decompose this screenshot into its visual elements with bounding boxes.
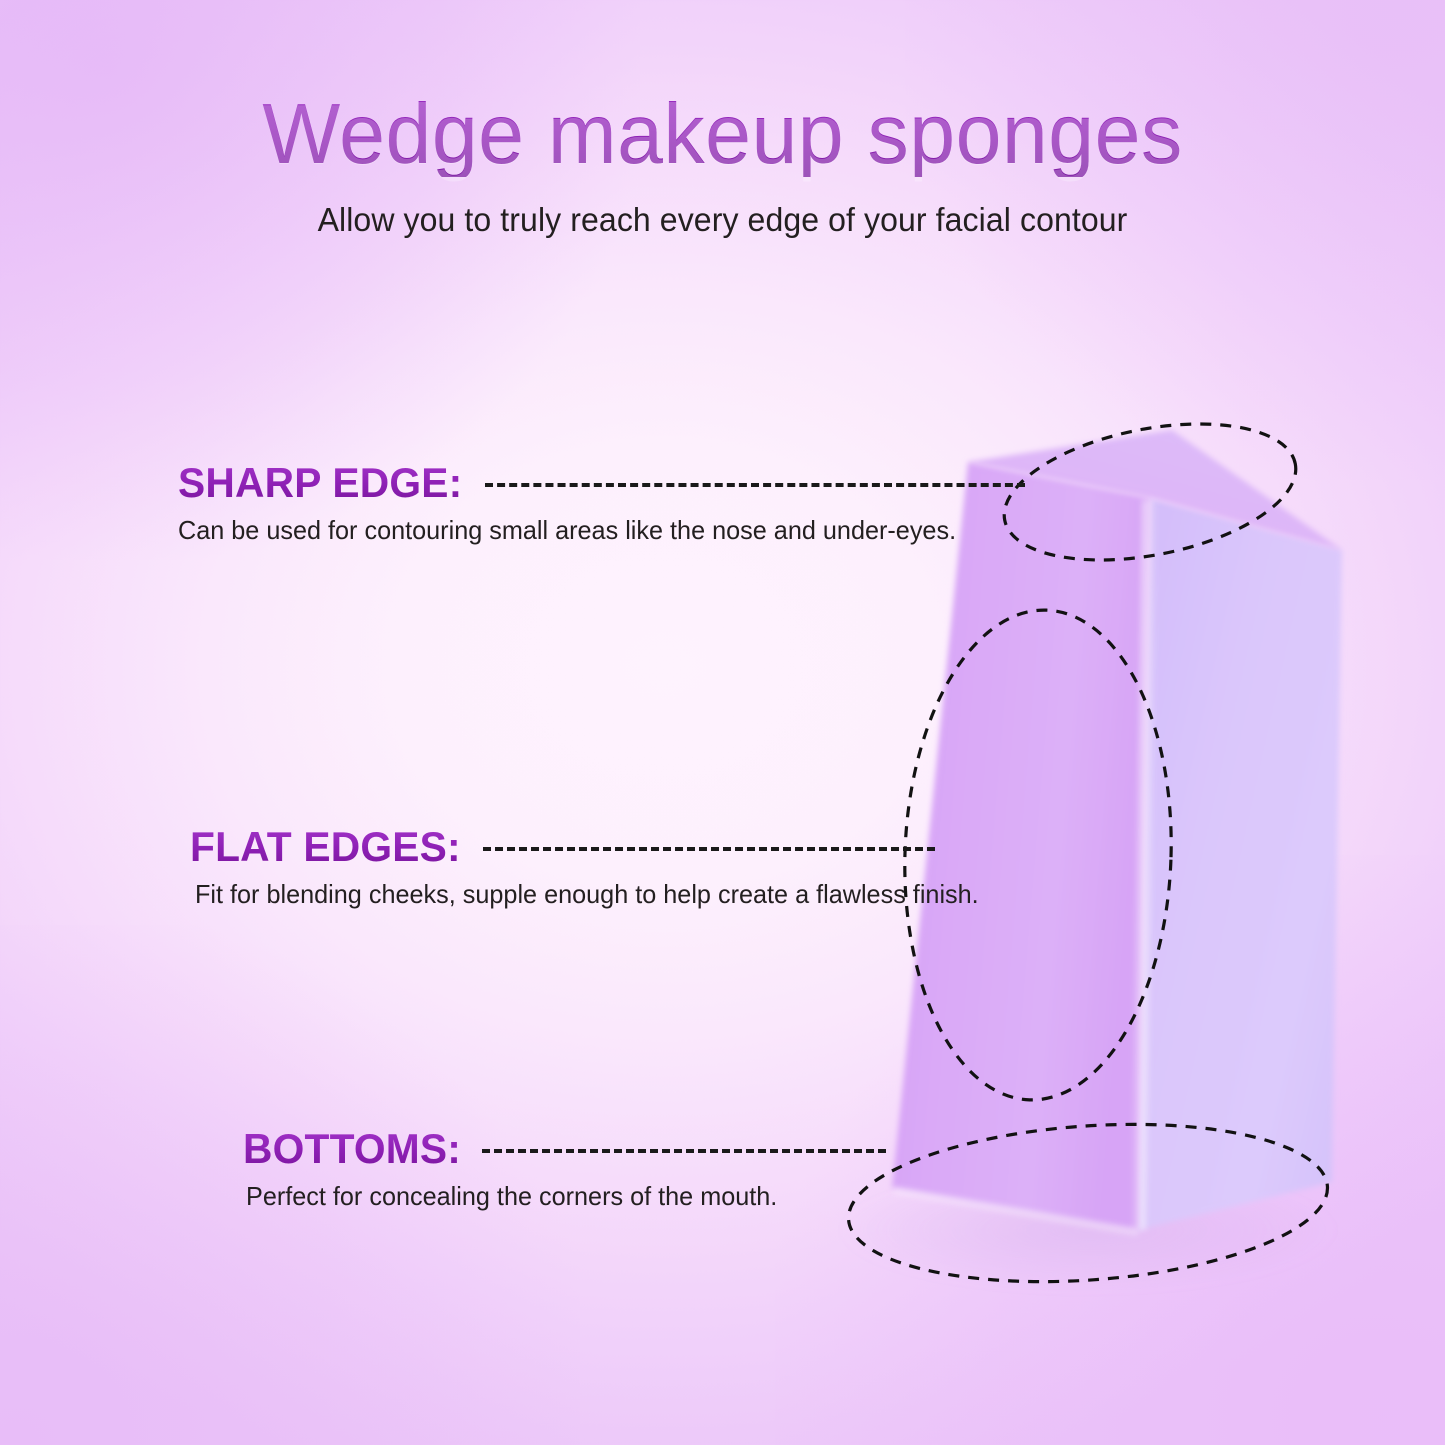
annotation-flat-edges-description: Fit for blending cheeks, supple enough t… [195,879,979,910]
annotation-sharp-edge-label: SHARP EDGE: [178,462,462,504]
annotation-sharp-edge-head: SHARP EDGE: [178,462,1025,504]
annotation-flat-edges-head: FLAT EDGES: [190,826,1003,868]
page-subtitle: Allow you to truly reach every edge of y… [22,201,1424,239]
leader-line-bottoms [482,1149,886,1153]
sponge-right-face [1138,498,1342,1230]
annotation-sharp-edge: SHARP EDGE: Can be used for contouring s… [178,462,1025,546]
leader-line-sharp-edge [485,483,1025,487]
annotation-bottoms: BOTTOMS: Perfect for concealing the corn… [243,1128,886,1212]
annotation-bottoms-description: Perfect for concealing the corners of th… [246,1181,867,1212]
annotation-flat-edges-label: FLAT EDGES: [190,826,461,868]
annotation-flat-edges: FLAT EDGES: Fit for blending cheeks, sup… [190,826,1003,910]
annotation-sharp-edge-description: Can be used for contouring small areas l… [178,515,1000,546]
annotation-bottoms-label: BOTTOMS: [243,1128,461,1170]
leader-line-flat-edges [483,847,935,851]
page-title: Wedge makeup sponges [22,92,1424,177]
header: Wedge makeup sponges Allow you to truly … [0,92,1445,239]
annotation-bottoms-head: BOTTOMS: [243,1128,886,1170]
